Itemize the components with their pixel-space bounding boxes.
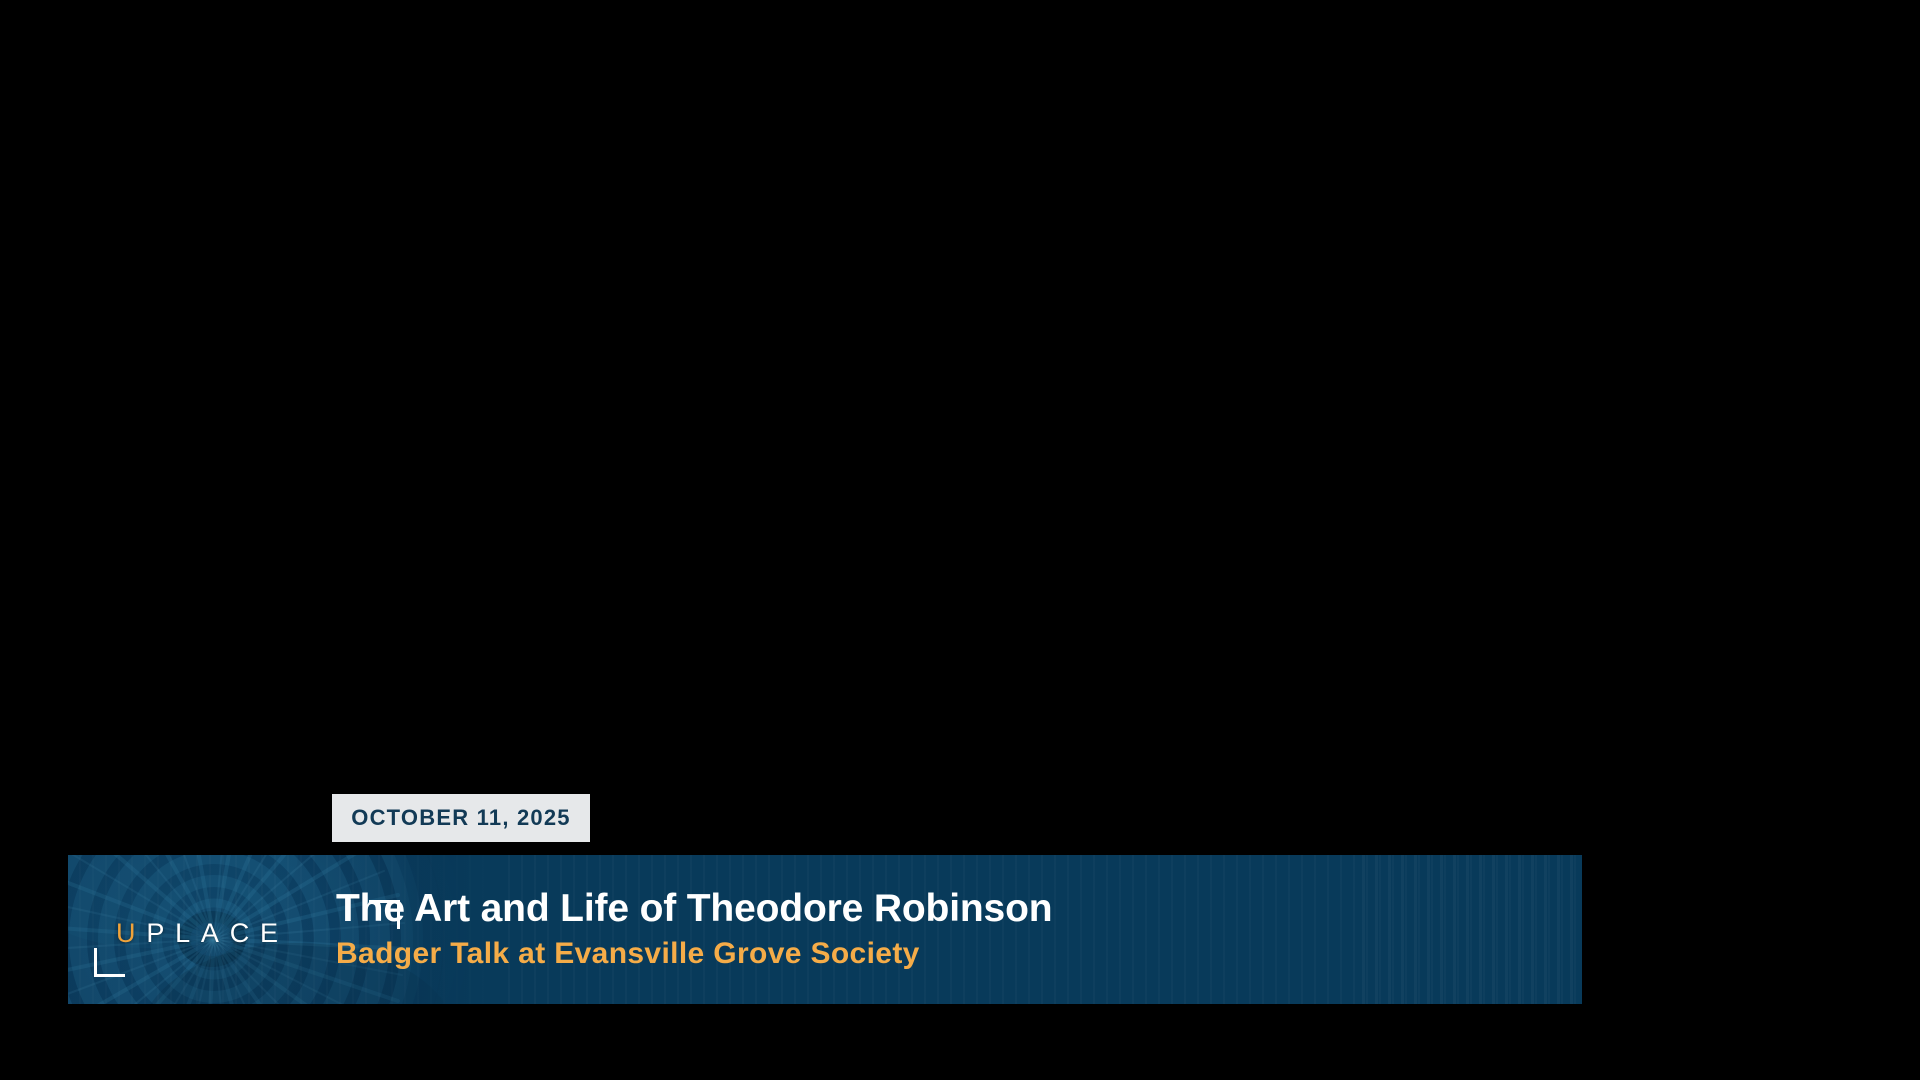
poster-canvas: OCTOBER 11, 2025 [0, 0, 1920, 1080]
banner-text-block: The Art and Life of Theodore Robinson Ba… [336, 855, 1052, 1004]
uplace-wordmark: UPLACE [116, 920, 289, 947]
event-title: The Art and Life of Theodore Robinson [336, 889, 1052, 930]
logo-rest-letters: PLACE [146, 918, 289, 948]
corner-bracket-bottom-left-icon [94, 948, 125, 977]
event-banner[interactable]: UPLACE The Art and Life of Theodore Robi… [68, 855, 1582, 1004]
banner-stripe-overlay-right [1352, 855, 1582, 1004]
event-subtitle: Badger Talk at Evansville Grove Society [336, 938, 1052, 970]
event-date-label: OCTOBER 11, 2025 [351, 807, 571, 829]
logo-accent-letter: U [116, 918, 146, 948]
event-date-badge: OCTOBER 11, 2025 [332, 794, 590, 842]
